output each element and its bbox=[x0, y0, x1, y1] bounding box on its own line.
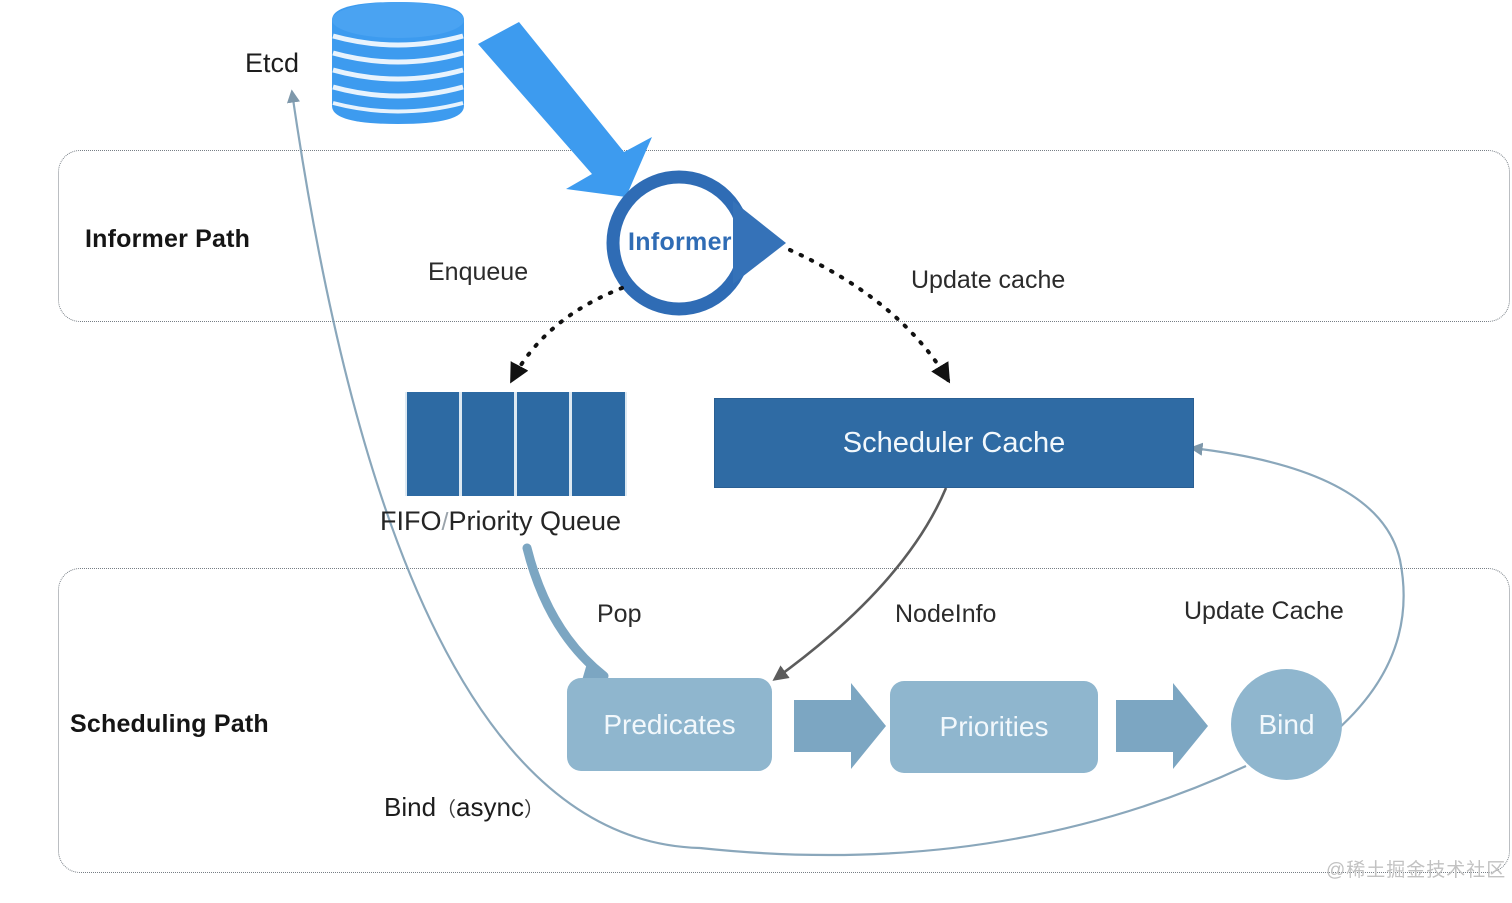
database-icon bbox=[332, 2, 464, 124]
priorities-label: Priorities bbox=[940, 711, 1049, 743]
priorities-box[interactable]: Priorities bbox=[890, 681, 1098, 773]
diagram-canvas: Scheduler Cache Predicates Priorities Bi… bbox=[0, 0, 1512, 903]
predicates-label: Predicates bbox=[603, 709, 735, 741]
queue-caption: FIFO/Priority Queue bbox=[380, 506, 621, 537]
fifo-priority-queue bbox=[405, 392, 627, 496]
scheduler-cache-label: Scheduler Cache bbox=[843, 427, 1065, 460]
queue-cell bbox=[405, 392, 461, 496]
queue-caption-rest: Priority Queue bbox=[448, 506, 621, 536]
scheduler-cache-box[interactable]: Scheduler Cache bbox=[714, 398, 1194, 488]
queue-cell bbox=[460, 392, 516, 496]
queue-cell bbox=[570, 392, 627, 496]
panel-informer-path bbox=[58, 150, 1510, 322]
queue-cell bbox=[515, 392, 571, 496]
predicates-box[interactable]: Predicates bbox=[567, 678, 772, 771]
bind-circle[interactable]: Bind bbox=[1231, 669, 1342, 780]
etcd-label: Etcd bbox=[245, 48, 299, 79]
queue-caption-slash: / bbox=[442, 508, 449, 536]
bind-label: Bind bbox=[1258, 709, 1314, 741]
queue-caption-fifo: FIFO bbox=[380, 506, 442, 536]
